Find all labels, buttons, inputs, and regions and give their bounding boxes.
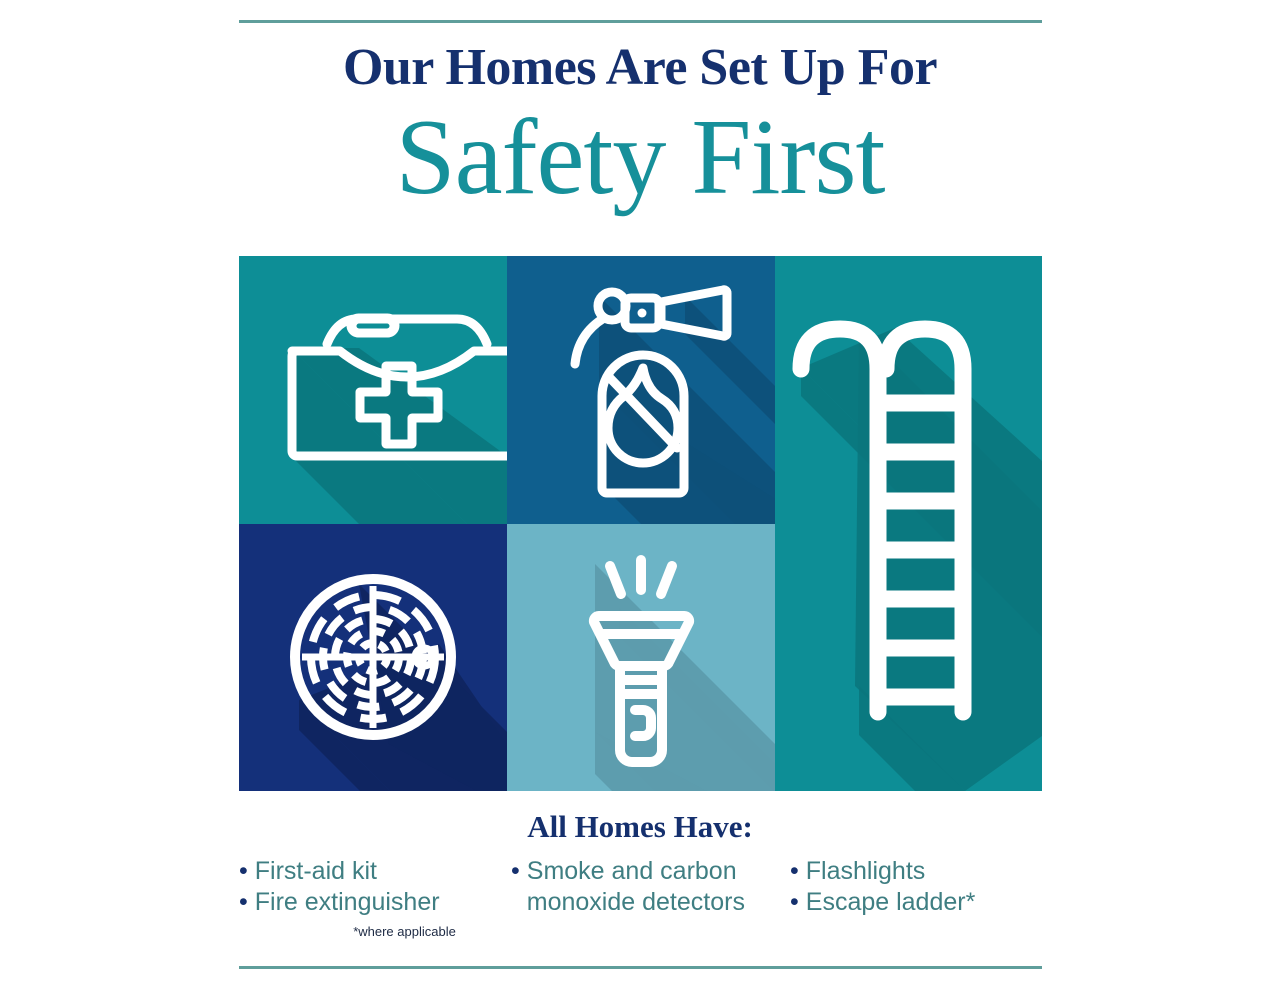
ladder-icon [775,256,1042,791]
list-item: • Escape ladder* [790,887,1042,918]
list-item-label-group: Smoke and carbon monoxide detectors [527,856,745,918]
bullet-icon: • [511,856,520,887]
infographic-page: Our Homes Are Set Up For Safety First [0,0,1280,989]
bullet-icon: • [790,887,799,918]
bullet-columns: • First-aid kit • Fire extinguisher • Sm… [239,856,1042,956]
list-item: • Fire extinguisher [239,887,504,918]
tile-fire-extinguisher [507,256,775,524]
tile-first-aid-kit [239,256,507,524]
tile-flashlight [507,524,775,791]
list-item-label: Escape ladder* [806,887,976,918]
bullet-column-3: • Flashlights • Escape ladder* [790,856,1042,918]
title-line-2: Safety First [0,102,1280,214]
list-item-label: Flashlights [806,856,926,887]
list-item-label: Fire extinguisher [255,887,440,918]
bullet-column-1: • First-aid kit • Fire extinguisher [239,856,504,918]
bullet-icon: • [239,887,248,918]
list-item-label: Smoke and carbon [527,856,745,887]
list-heading: All Homes Have: [0,808,1280,846]
first-aid-kit-icon [239,256,507,524]
tile-escape-ladder [775,256,1042,791]
list-item: • Smoke and carbon monoxide detectors [511,856,776,918]
title-block: Our Homes Are Set Up For Safety First [0,38,1280,214]
divider-top [239,20,1042,23]
footnote: *where applicable [272,924,537,940]
divider-bottom [239,966,1042,969]
list-item: • Flashlights [790,856,1042,887]
bullet-column-2: • Smoke and carbon monoxide detectors [511,856,776,918]
list-item: • First-aid kit [239,856,504,887]
title-line-1: Our Homes Are Set Up For [0,38,1280,98]
list-item-label-continued: monoxide detectors [527,887,745,918]
flashlight-icon [507,524,775,791]
tile-smoke-detector [239,524,507,791]
fire-extinguisher-icon [507,256,775,524]
bullet-icon: • [790,856,799,887]
icon-grid [239,256,1042,791]
smoke-detector-icon [239,524,507,791]
list-item-label: First-aid kit [255,856,377,887]
bullet-icon: • [239,856,248,887]
